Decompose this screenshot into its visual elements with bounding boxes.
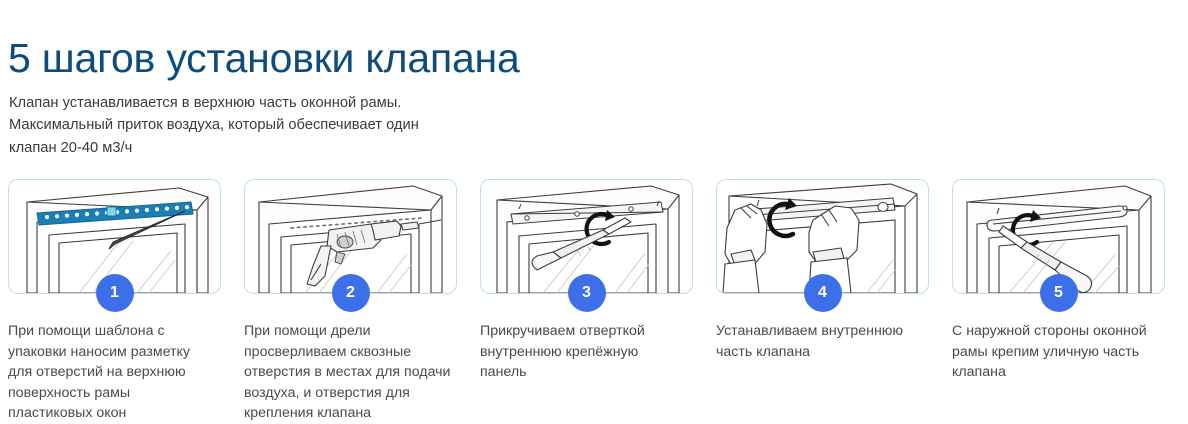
step-caption-5: С наружной стороны оконной рамы крепим у… [952, 321, 1160, 383]
step-card-2: 2 При помощи дрели просверливаем сквозны… [244, 179, 457, 424]
step-illustration-frame-5: 5 [952, 179, 1165, 294]
step-illustration-frame-4: 4 [716, 179, 929, 294]
step-caption-2: При помощи дрели просверливаем сквозные … [244, 321, 452, 424]
steps-row: 1 При помощи шаблона с упаковки наносим … [0, 179, 1188, 424]
step-number-badge-2: 2 [332, 274, 370, 312]
step-caption-3: Прикручиваем отверткой внутреннюю крепёж… [480, 321, 688, 383]
step-illustration-frame-3: 3 [480, 179, 693, 294]
step-caption-4: Устанавливаем внутреннюю часть клапана [716, 321, 924, 362]
step-illustration-frame-1: 1 [8, 179, 221, 294]
step-number-badge-3: 3 [568, 274, 606, 312]
step-number-badge-5: 5 [1040, 274, 1078, 312]
step-illustration-frame-2: 2 [244, 179, 457, 294]
step-caption-1: При помощи шаблона с упаковки наносим ра… [8, 321, 216, 424]
intro-paragraph: Клапан устанавливается в верхнюю часть о… [9, 92, 419, 160]
step-card-4: 4 Устанавливаем внутреннюю часть клапана [716, 179, 929, 424]
page-title: 5 шагов установки клапана [8, 33, 520, 83]
step-card-3: 3 Прикручиваем отверткой внутреннюю креп… [480, 179, 693, 424]
step-card-5: 5 С наружной стороны оконной рамы крепим… [952, 179, 1165, 424]
step-number-badge-4: 4 [804, 274, 842, 312]
step-number-badge-1: 1 [96, 274, 134, 312]
installation-steps-page: 5 шагов установки клапана Клапан устанав… [0, 0, 1188, 420]
step-card-1: 1 При помощи шаблона с упаковки наносим … [8, 179, 221, 424]
